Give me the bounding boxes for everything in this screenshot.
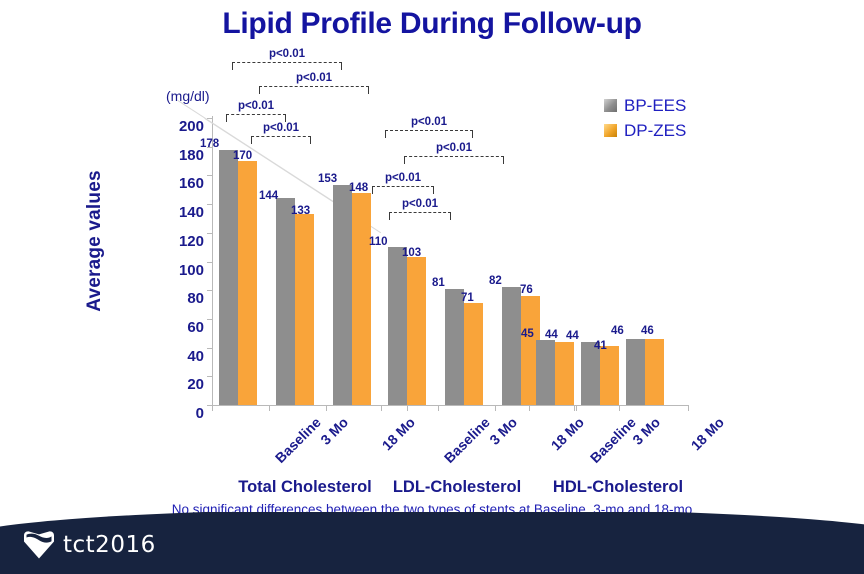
data-label: 153	[318, 173, 337, 185]
data-label: 133	[291, 205, 310, 217]
bar-g1-18mo-bpees	[333, 185, 352, 405]
data-label: 76	[520, 284, 533, 296]
y-tick-0: 0	[160, 405, 204, 406]
bar-g3-baseline-bpees	[536, 340, 555, 405]
bar-g3-baseline-dpzes	[555, 342, 574, 405]
bar-g2-18mo-bpees	[502, 287, 521, 405]
x-tickmark	[529, 405, 530, 411]
x-tickmark	[326, 405, 327, 411]
bar-g1-3mo-bpees	[276, 198, 295, 405]
x-tickmark	[212, 405, 213, 411]
legend-label-dp-zes: DP-ZES	[624, 121, 714, 141]
x-axis-line-g1	[212, 405, 408, 406]
x-tick-label-g3-18mo: 18 Mo	[688, 414, 727, 453]
x-tick-label-g3-3mo: 3 Mo	[629, 414, 663, 448]
data-label: 41	[594, 340, 607, 352]
bar-g1-baseline-bpees	[219, 150, 238, 405]
data-label: 103	[402, 247, 421, 259]
x-tick-label-g1-3mo: 3 Mo	[317, 414, 351, 448]
bar-g2-baseline-bpees	[388, 247, 407, 405]
data-label: 46	[641, 325, 654, 337]
bar-g2-3mo-bpees	[445, 289, 464, 405]
bar-g2-baseline-dpzes	[407, 257, 426, 405]
x-tick-label-g1-baseline: Baseline	[272, 414, 324, 466]
bar-g1-baseline-dpzes	[238, 161, 257, 405]
x-axis-line-g3	[529, 405, 689, 406]
data-label: 81	[432, 277, 445, 289]
data-label: 71	[461, 292, 474, 304]
bar-g3-18mo-dpzes	[645, 339, 664, 405]
x-tick-label-g1-18mo: 18 Mo	[379, 414, 418, 453]
brand-logo: tct2016	[22, 530, 156, 560]
x-tick-label-g2-baseline: Baseline	[441, 414, 493, 466]
x-tickmark	[269, 405, 270, 411]
legend-item-bp-ees[interactable]: BP-EES	[604, 96, 714, 116]
bar-g1-18mo-dpzes	[352, 193, 371, 405]
legend-swatch-bp-ees-icon	[604, 99, 617, 112]
data-label: 44	[545, 329, 558, 341]
slide-canvas: Lipid Profile During Follow-up (mg/dl) A…	[0, 0, 864, 574]
bar-g1-3mo-dpzes	[295, 214, 314, 405]
x-tickmark	[438, 405, 439, 411]
x-tick-label-g2-3mo: 3 Mo	[486, 414, 520, 448]
data-label: 45	[521, 328, 534, 340]
group-title-hdl-cholesterol: HDL-Cholesterol	[513, 478, 723, 497]
data-label: 148	[349, 182, 368, 194]
chart-plot-area: (mg/dl) Average values 200 180 160 140 1…	[0, 0, 864, 520]
data-label: 82	[489, 275, 502, 287]
data-label: 46	[611, 325, 624, 337]
x-tickmark	[688, 405, 689, 411]
x-tickmark	[495, 405, 496, 411]
data-label: 144	[259, 190, 278, 202]
data-label: 44	[566, 330, 579, 342]
x-tickmark	[574, 405, 575, 411]
x-tick-label-g2-18mo: 18 Mo	[548, 414, 587, 453]
legend-item-dp-zes[interactable]: DP-ZES	[604, 121, 714, 141]
legend-swatch-dp-zes-icon	[604, 124, 617, 137]
data-label: 170	[233, 150, 252, 162]
data-label: 110	[369, 236, 388, 248]
tct-heart-logo-icon	[22, 530, 56, 560]
slide-footer: tct2016	[0, 512, 864, 574]
x-tickmark	[619, 405, 620, 411]
x-tickmark	[381, 405, 382, 411]
legend-label-bp-ees: BP-EES	[624, 96, 714, 116]
data-label: 178	[200, 138, 219, 150]
bar-g3-3mo-dpzes	[600, 346, 619, 405]
x-tick-label-g3-baseline: Baseline	[587, 414, 639, 466]
bar-g3-18mo-bpees	[626, 339, 645, 405]
brand-wordmark: tct2016	[63, 532, 156, 558]
bar-g2-3mo-dpzes	[464, 303, 483, 405]
